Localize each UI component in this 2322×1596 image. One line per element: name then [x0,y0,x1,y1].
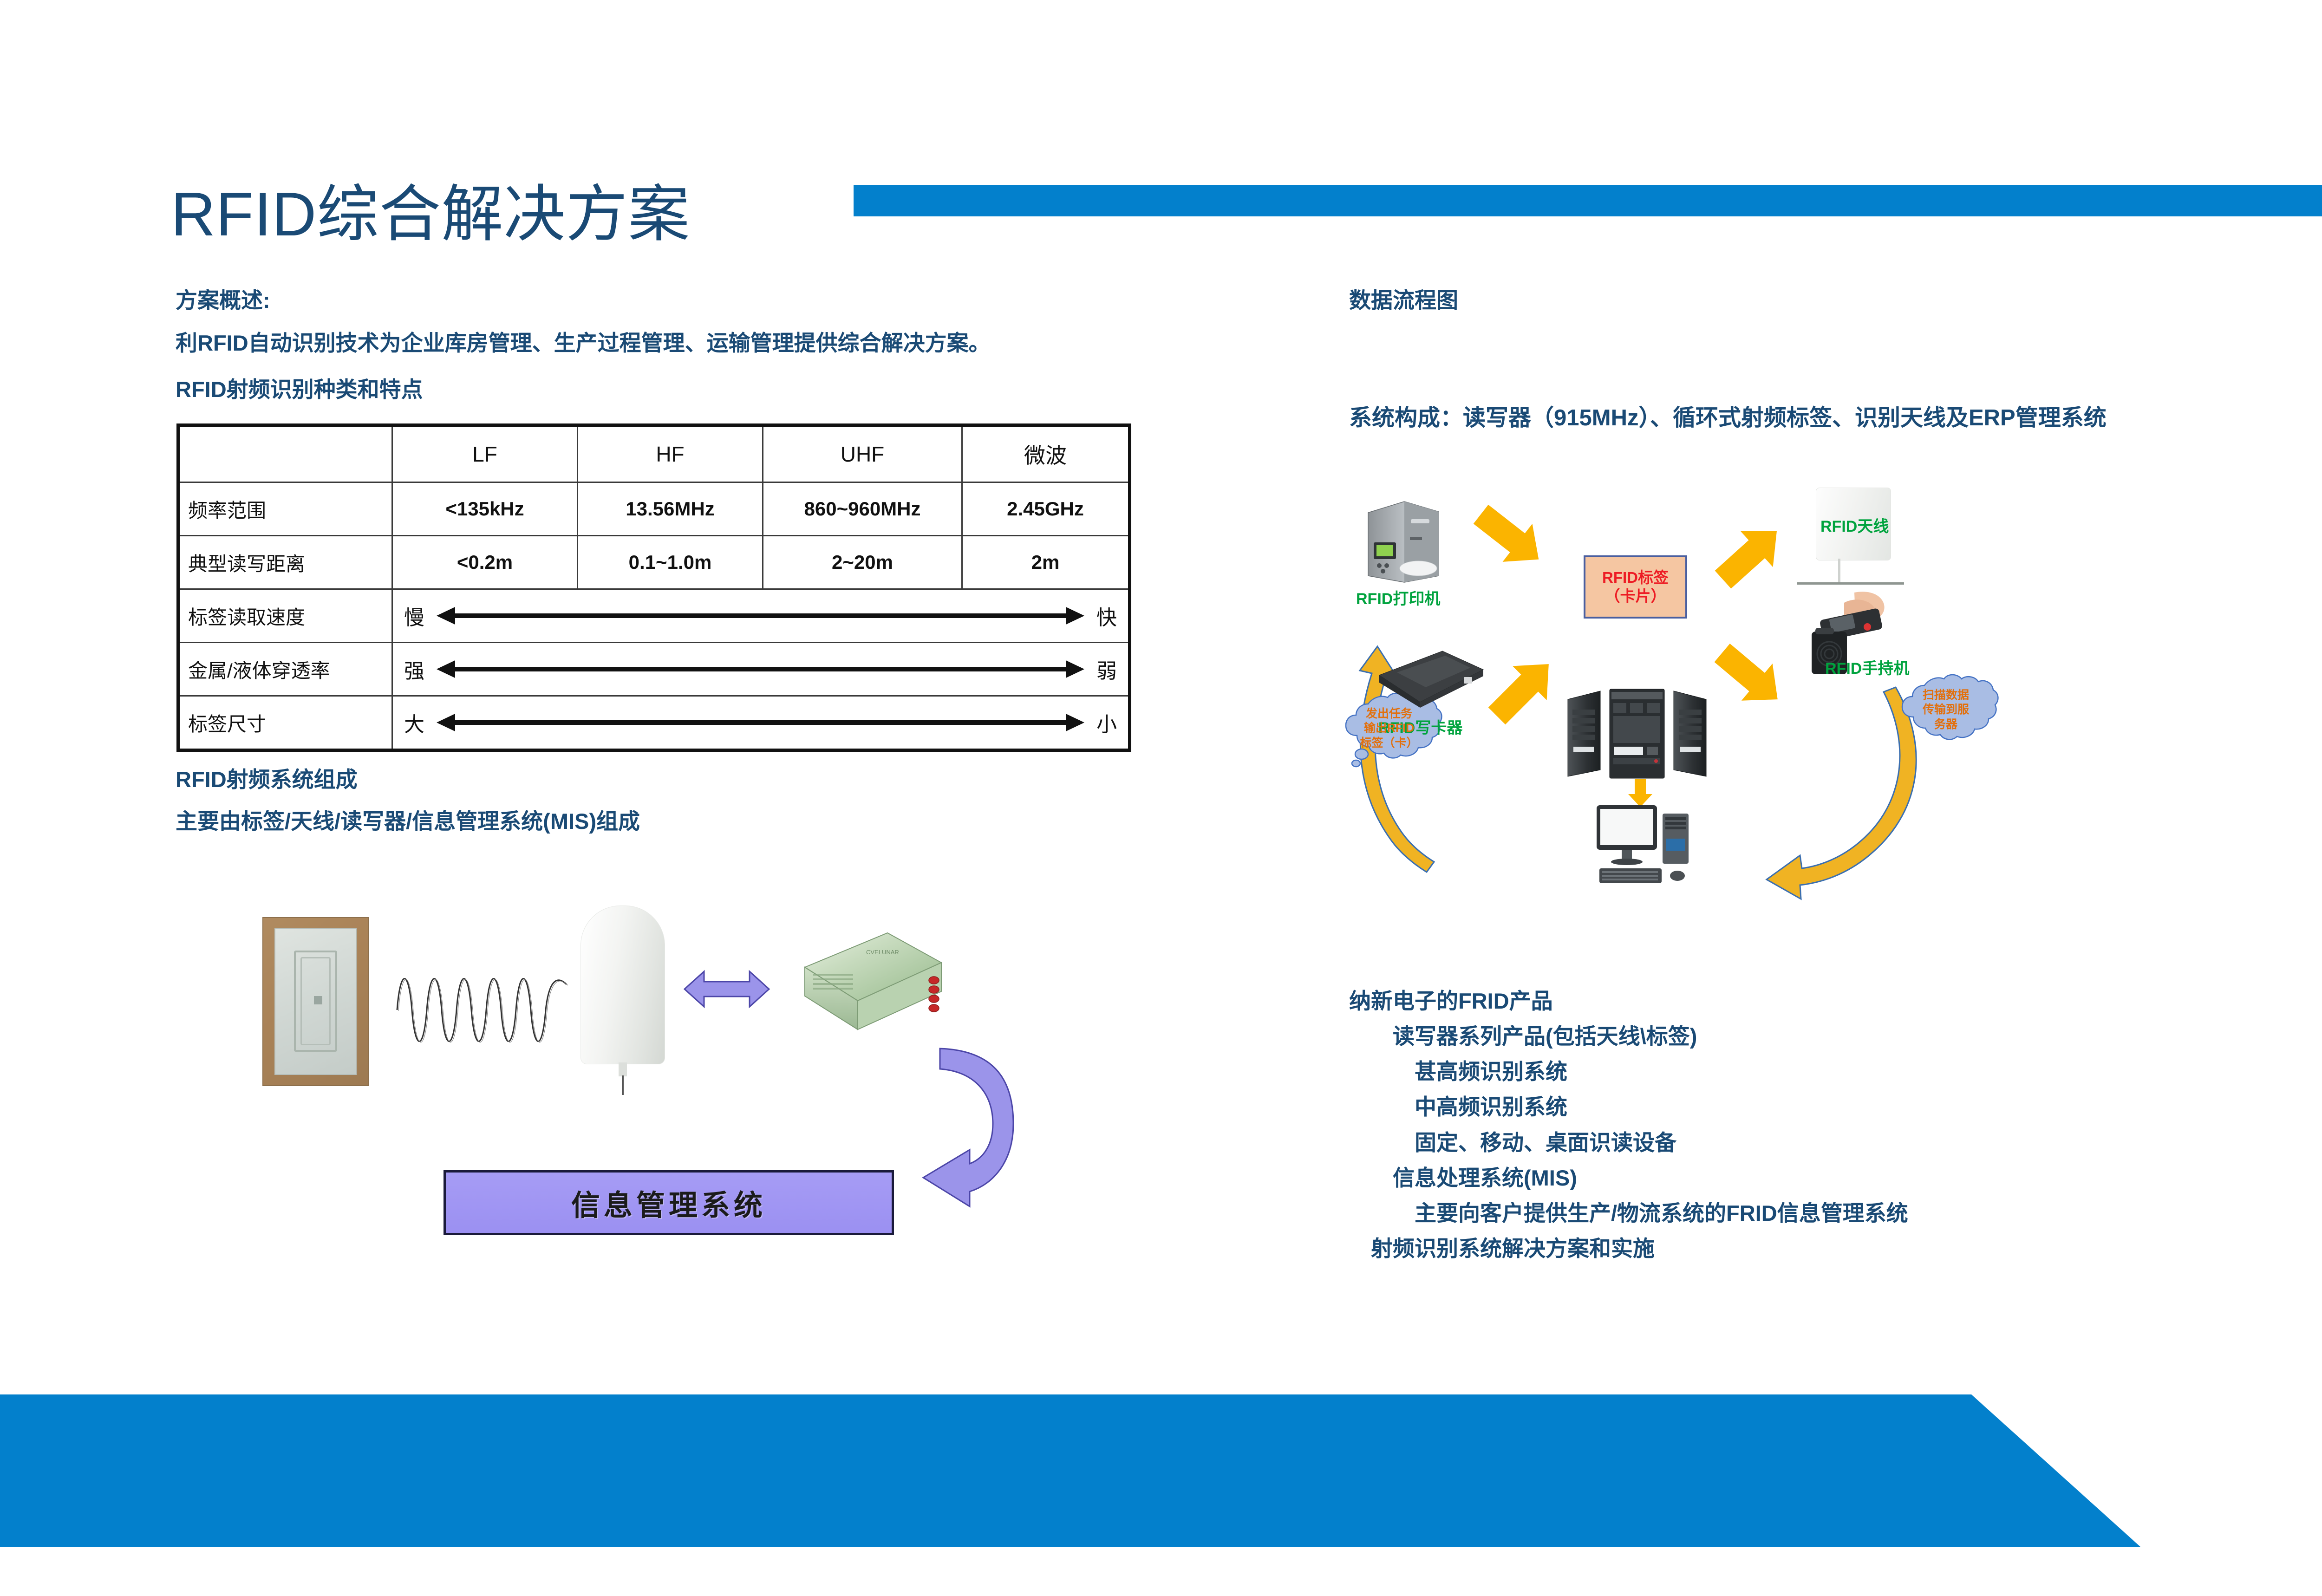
table-header-microwave: 微波 [962,425,1130,482]
row-label: 标签读取速度 [178,589,392,643]
cell-value: <135kHz [392,482,578,536]
arrow-tag-to-handheld [1707,634,1793,718]
list-item: 主要向客户提供生产/物流系统的FRID信息管理系统 [1349,1196,1908,1231]
row-label: 典型读写距离 [178,536,392,589]
rfid-tag-box-line2: （卡片） [1605,587,1666,606]
product-list: 纳新电子的FRID产品 读写器系列产品(包括天线\标签) 甚高频识别系统 中高频… [1349,984,1908,1266]
curved-arrow-icon [910,1045,1031,1231]
table-row: 典型读写距离 <0.2m 0.1~1.0m 2~20m 2m [178,536,1130,589]
arrow-tag-to-antenna [1707,513,1793,598]
table-header-row: LF HF UHF 微波 [178,425,1130,482]
tag-chip [314,996,322,1004]
scale-left-label: 慢 [404,601,424,631]
table-corner-cell [178,425,392,482]
footer-accent-bar [0,1394,2322,1547]
double-arrow-icon [437,713,1084,732]
page-title: RFID综合解决方案 [171,184,690,246]
scale-left-label: 大 [404,708,424,737]
gradient-arrow-cell: 慢 快 [392,589,1130,643]
radio-wave-icon [395,966,576,1054]
table-row: 标签尺寸 大 小 [178,696,1130,750]
row-label: 标签尺寸 [178,696,392,750]
antenna-body [580,905,665,1064]
antenna-label: RFID天线 [1820,514,1889,536]
header-accent-bar [854,185,2322,216]
table-header-uhf: UHF [763,425,962,482]
rfid-card-writer-photo [1375,645,1486,710]
rfid-tag-box-line1: RFID标签 [1602,568,1669,587]
gradient-arrow-cell: 大 小 [392,696,1130,750]
double-arrow-icon [437,660,1084,678]
overview-description: 利RFID自动识别技术为企业库房管理、生产过程管理、运输管理提供综合解决方案。 [176,325,991,357]
scale-right-label: 小 [1096,708,1117,737]
table-row: 金属/液体穿透率 强 弱 [178,643,1130,696]
row-label: 金属/液体穿透率 [178,643,392,696]
svg-text:CVELUNAR: CVELUNAR [866,949,899,956]
cell-value: 2m [962,536,1130,589]
list-item: 固定、移动、桌面识读设备 [1349,1125,1908,1160]
data-flow-diagram: RFID打印机 RFID写卡器 RFID标签 （卡片） RFID天线 RFID手… [1310,469,2192,952]
list-item: 信息处理系统(MIS) [1349,1160,1908,1196]
desktop-computer-photo [1593,802,1700,888]
scale-right-label: 快 [1096,601,1117,631]
cloud-left-text: 发出任务输出RFID标签（卡） [1350,707,1428,750]
cell-value: <0.2m [392,536,578,589]
table-row: 频率范围 <135kHz 13.56MHz 860~960MHz 2.45GHz [178,482,1130,536]
scale-left-label: 强 [404,654,424,684]
cell-value: 0.1~1.0m [578,536,763,589]
types-heading: RFID射频识别种类和特点 [176,371,423,404]
rfid-printer-photo [1360,498,1462,584]
list-item: 纳新电子的FRID产品 [1349,984,1908,1019]
double-arrow-icon [437,606,1084,625]
cell-value: 13.56MHz [578,482,763,536]
server-rack-photo [1565,687,1709,780]
tag-inlay [274,928,357,1075]
table-row: 标签读取速度 慢 快 [178,589,1130,643]
antenna-connector [619,1062,627,1076]
rfid-tag-box: RFID标签 （卡片） [1584,555,1687,619]
rfid-tag-photo [262,917,369,1086]
arrow-loop-right [1767,687,1916,899]
list-item: 甚高频识别系统 [1349,1054,1908,1089]
handheld-label: RFID手持机 [1825,656,1909,678]
rfid-spec-table: LF HF UHF 微波 频率范围 <135kHz 13.56MHz 860~9… [176,423,1131,752]
cell-value: 2.45GHz [962,482,1130,536]
gradient-arrow-cell: 强 弱 [392,643,1130,696]
table-header-lf: LF [392,425,578,482]
list-item: 读写器系列产品(包括天线\标签) [1349,1019,1908,1054]
system-composition-heading: RFID射频系统组成 [176,762,358,794]
system-composition-detail: 主要由标签/天线/读写器/信息管理系统(MIS)组成 [176,803,640,835]
arrow-printer-to-tag [1466,495,1554,578]
antenna-ground-line [1797,582,1904,585]
arrow-writer-to-tag [1480,647,1565,733]
cloud-right-text: 扫描数据传输到服务器 [1906,688,1985,732]
data-flow-heading: 数据流程图 [1349,282,1458,314]
list-item: 中高频识别系统 [1349,1089,1908,1125]
antenna-cable [1838,559,1840,583]
mis-box: 信息管理系统 [444,1170,894,1235]
mis-box-label: 信息管理系统 [571,1182,766,1224]
rfid-reader-photo: CVELUNAR [796,926,950,1061]
table-header-hf: HF [578,425,763,482]
double-arrow-icon [683,961,771,1017]
list-item: 射频识别系统解决方案和实施 [1349,1231,1908,1266]
antenna-cable [622,1075,624,1095]
cell-value: 860~960MHz [763,482,962,536]
overview-label: 方案概述: [176,282,270,314]
system-makeup-line: 系统构成：读写器（915MHz）、循环式射频标签、识别天线及ERP管理系统 [1349,399,2107,432]
printer-label: RFID打印机 [1356,586,1440,609]
scale-right-label: 弱 [1096,654,1117,684]
row-label: 频率范围 [178,482,392,536]
rfid-antenna-photo [580,905,664,1087]
cell-value: 2~20m [763,536,962,589]
